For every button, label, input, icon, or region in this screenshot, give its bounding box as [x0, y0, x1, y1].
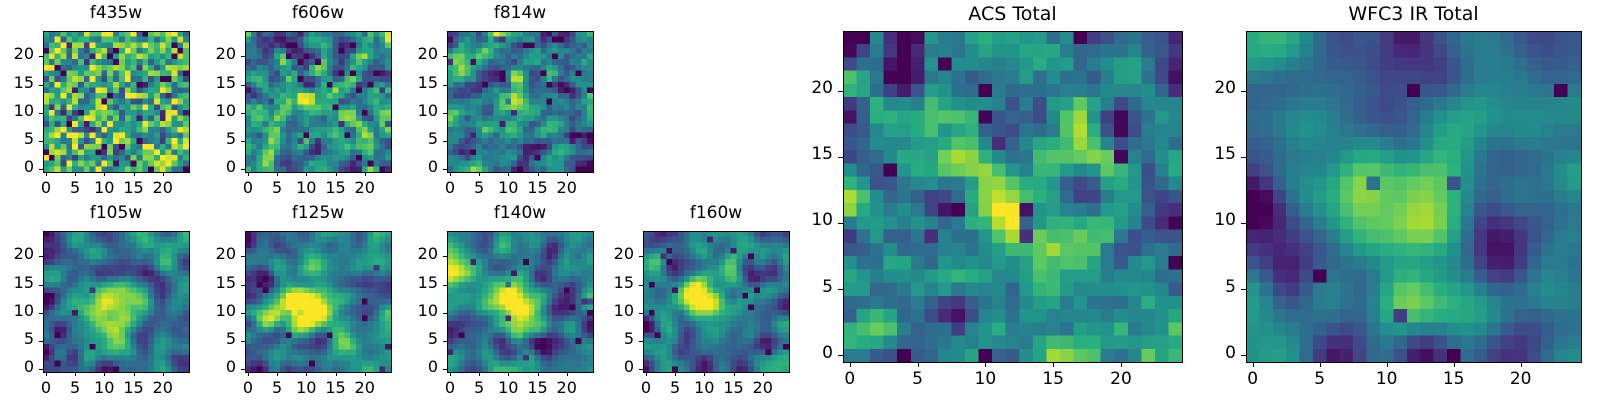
x-tick-label: 5 [1295, 371, 1345, 388]
y-tick [443, 341, 447, 342]
x-tick-label: 10 [1362, 371, 1412, 388]
x-tick [1053, 362, 1054, 367]
y-tick-label: 20 [583, 246, 634, 262]
x-tick [675, 372, 676, 376]
axis-spine-left [447, 31, 448, 172]
x-tick [1253, 362, 1254, 367]
y-tick-label: 0 [583, 359, 634, 375]
x-tick [1387, 362, 1388, 367]
axis-spine-left [245, 31, 246, 172]
axis-spine-top [447, 31, 593, 32]
x-tick-label: 20 [138, 380, 188, 396]
y-tick-label: 20 [387, 46, 438, 62]
x-tick [248, 372, 249, 376]
y-tick [39, 285, 43, 286]
x-tick [567, 372, 568, 376]
x-tick [336, 372, 337, 376]
y-tick [241, 85, 245, 86]
axis-spine-left [43, 31, 44, 172]
x-tick-label: 0 [1228, 371, 1278, 388]
x-tick [134, 172, 135, 176]
y-tick-label: 0 [185, 159, 236, 175]
y-tick-label: 15 [1186, 146, 1236, 163]
y-tick [639, 285, 643, 286]
y-tick-label: 10 [387, 103, 438, 119]
panel-wfc3-ir-total: WFC3 IR Total0055101015152020 [1186, 3, 1600, 404]
x-tick [763, 372, 764, 376]
y-tick-label: 0 [0, 359, 34, 375]
x-tick [104, 172, 105, 176]
heatmap-image [843, 31, 1182, 362]
y-tick-label: 15 [387, 275, 438, 291]
panel-acs-total: ACS Total0055101015152020 [783, 3, 1242, 404]
x-tick [248, 172, 249, 176]
y-tick-label: 0 [387, 359, 438, 375]
x-tick-label: 20 [542, 180, 592, 196]
y-tick [639, 256, 643, 257]
x-tick [75, 372, 76, 376]
y-tick [443, 85, 447, 86]
x-tick [163, 172, 164, 176]
y-tick [443, 113, 447, 114]
y-tick [241, 113, 245, 114]
y-tick [241, 141, 245, 142]
y-tick-label: 20 [1186, 80, 1236, 97]
x-tick-label: 20 [738, 380, 788, 396]
x-tick-label: 15 [1429, 371, 1479, 388]
axis-spine-top [643, 231, 789, 232]
heatmap-image [447, 31, 593, 172]
y-tick [639, 341, 643, 342]
axis-spine-left [843, 31, 844, 362]
y-tick [39, 141, 43, 142]
heatmap-image [43, 31, 189, 172]
y-tick-label: 20 [0, 246, 34, 262]
heatmap-image [1246, 31, 1581, 362]
x-tick-label: 5 [893, 371, 943, 388]
y-tick-label: 5 [387, 331, 438, 347]
x-tick [1521, 362, 1522, 367]
x-tick [163, 372, 164, 376]
y-tick-label: 10 [0, 303, 34, 319]
axis-spine-bottom [245, 172, 392, 173]
x-tick [306, 372, 307, 376]
y-tick [241, 285, 245, 286]
y-tick-label: 10 [783, 212, 833, 229]
y-tick [443, 369, 447, 370]
x-tick-label: 20 [340, 180, 390, 196]
y-tick-label: 15 [0, 275, 34, 291]
y-tick-label: 5 [0, 331, 34, 347]
axis-spine-top [1246, 31, 1581, 32]
x-tick [450, 172, 451, 176]
axis-spine-top [447, 231, 593, 232]
y-tick-label: 20 [387, 246, 438, 262]
y-tick [241, 169, 245, 170]
y-tick [39, 56, 43, 57]
axis-spine-left [43, 231, 44, 372]
y-tick [39, 113, 43, 114]
x-tick [508, 172, 509, 176]
heatmap-image [643, 231, 789, 372]
figure-canvas: f435w0055101015152020f606w00551010151520… [0, 0, 1600, 400]
y-tick [39, 341, 43, 342]
y-tick [838, 289, 843, 290]
x-tick [918, 362, 919, 367]
y-tick-label: 5 [583, 331, 634, 347]
panel-title: WFC3 IR Total [1186, 5, 1600, 24]
y-tick [1241, 91, 1246, 92]
y-tick [39, 169, 43, 170]
y-tick-label: 5 [0, 131, 34, 147]
y-tick [443, 56, 447, 57]
axis-spine-bottom [447, 372, 594, 373]
axis-spine-bottom [843, 362, 1183, 363]
axis-spine-right [1182, 31, 1183, 363]
y-tick [443, 313, 447, 314]
axis-spine-bottom [1246, 362, 1582, 363]
axis-spine-bottom [43, 372, 190, 373]
axis-spine-left [1246, 31, 1247, 362]
y-tick [639, 369, 643, 370]
x-tick [365, 372, 366, 376]
axis-spine-right [593, 31, 594, 173]
y-tick-label: 5 [1186, 279, 1236, 296]
y-tick-label: 15 [583, 275, 634, 291]
y-tick-label: 20 [783, 80, 833, 97]
y-tick-label: 10 [583, 303, 634, 319]
y-tick [838, 355, 843, 356]
heatmap-image [245, 231, 391, 372]
y-tick-label: 5 [185, 131, 236, 147]
x-tick [365, 172, 366, 176]
x-tick [46, 172, 47, 176]
axis-spine-left [245, 231, 246, 372]
axis-spine-top [43, 31, 189, 32]
heatmap-image [447, 231, 593, 372]
y-tick-label: 15 [185, 75, 236, 91]
y-tick [39, 85, 43, 86]
y-tick-label: 0 [185, 359, 236, 375]
y-tick [39, 313, 43, 314]
x-tick [104, 372, 105, 376]
x-tick-label: 15 [1028, 371, 1078, 388]
x-tick [734, 372, 735, 376]
panel-title: ACS Total [783, 5, 1242, 24]
x-tick-label: 20 [340, 380, 390, 396]
y-tick-label: 10 [185, 303, 236, 319]
x-tick [479, 372, 480, 376]
heatmap-image [245, 31, 391, 172]
x-tick [538, 172, 539, 176]
x-tick [1121, 362, 1122, 367]
x-tick [1454, 362, 1455, 367]
x-tick [46, 372, 47, 376]
y-tick-label: 20 [0, 46, 34, 62]
x-tick [277, 172, 278, 176]
y-tick-label: 0 [1186, 345, 1236, 362]
x-tick [75, 172, 76, 176]
y-tick [1241, 289, 1246, 290]
axis-spine-top [43, 231, 189, 232]
y-tick [639, 313, 643, 314]
y-tick [241, 341, 245, 342]
y-tick [838, 91, 843, 92]
y-tick [1241, 157, 1246, 158]
y-tick-label: 15 [387, 75, 438, 91]
y-tick-label: 0 [783, 345, 833, 362]
x-tick [567, 172, 568, 176]
y-tick-label: 10 [1186, 212, 1236, 229]
x-tick [1320, 362, 1321, 367]
x-tick-label: 0 [825, 371, 875, 388]
x-tick [538, 372, 539, 376]
y-tick-label: 0 [0, 159, 34, 175]
x-tick [704, 372, 705, 376]
x-tick [306, 172, 307, 176]
y-tick [1241, 355, 1246, 356]
y-tick-label: 10 [0, 103, 34, 119]
x-tick-label: 20 [138, 180, 188, 196]
x-tick [646, 372, 647, 376]
y-tick-label: 20 [185, 246, 236, 262]
y-tick-label: 5 [783, 279, 833, 296]
y-tick [1241, 223, 1246, 224]
x-tick-label: 10 [960, 371, 1010, 388]
y-tick [443, 285, 447, 286]
x-tick [508, 372, 509, 376]
axis-spine-top [245, 231, 391, 232]
y-tick-label: 0 [387, 159, 438, 175]
y-tick [443, 169, 447, 170]
y-tick-label: 5 [185, 331, 236, 347]
x-tick [336, 172, 337, 176]
y-tick-label: 15 [185, 275, 236, 291]
y-tick-label: 20 [185, 46, 236, 62]
y-tick [838, 223, 843, 224]
x-tick [134, 372, 135, 376]
axis-spine-right [1581, 31, 1582, 363]
panel-f814w: f814w0055101015152020 [387, 3, 653, 214]
y-tick-label: 15 [783, 146, 833, 163]
y-tick-label: 10 [185, 103, 236, 119]
x-tick [277, 372, 278, 376]
x-tick-label: 20 [1496, 371, 1546, 388]
axis-spine-bottom [447, 172, 594, 173]
x-tick [850, 362, 851, 367]
y-tick [241, 256, 245, 257]
y-tick [838, 157, 843, 158]
y-tick [39, 369, 43, 370]
axis-spine-top [245, 31, 391, 32]
axis-spine-left [643, 231, 644, 372]
y-tick [241, 56, 245, 57]
x-tick-label: 20 [1096, 371, 1146, 388]
y-tick-label: 15 [0, 75, 34, 91]
y-tick [443, 256, 447, 257]
y-tick [443, 141, 447, 142]
axis-spine-top [843, 31, 1182, 32]
heatmap-image [43, 231, 189, 372]
y-tick [241, 313, 245, 314]
y-tick [241, 369, 245, 370]
x-tick [450, 372, 451, 376]
axis-spine-bottom [643, 372, 790, 373]
y-tick [39, 256, 43, 257]
axis-spine-left [447, 231, 448, 372]
axis-spine-bottom [43, 172, 190, 173]
y-tick-label: 5 [387, 131, 438, 147]
y-tick-label: 10 [387, 303, 438, 319]
axis-spine-bottom [245, 372, 392, 373]
x-tick [479, 172, 480, 176]
x-tick [985, 362, 986, 367]
panel-title: f814w [387, 5, 653, 22]
